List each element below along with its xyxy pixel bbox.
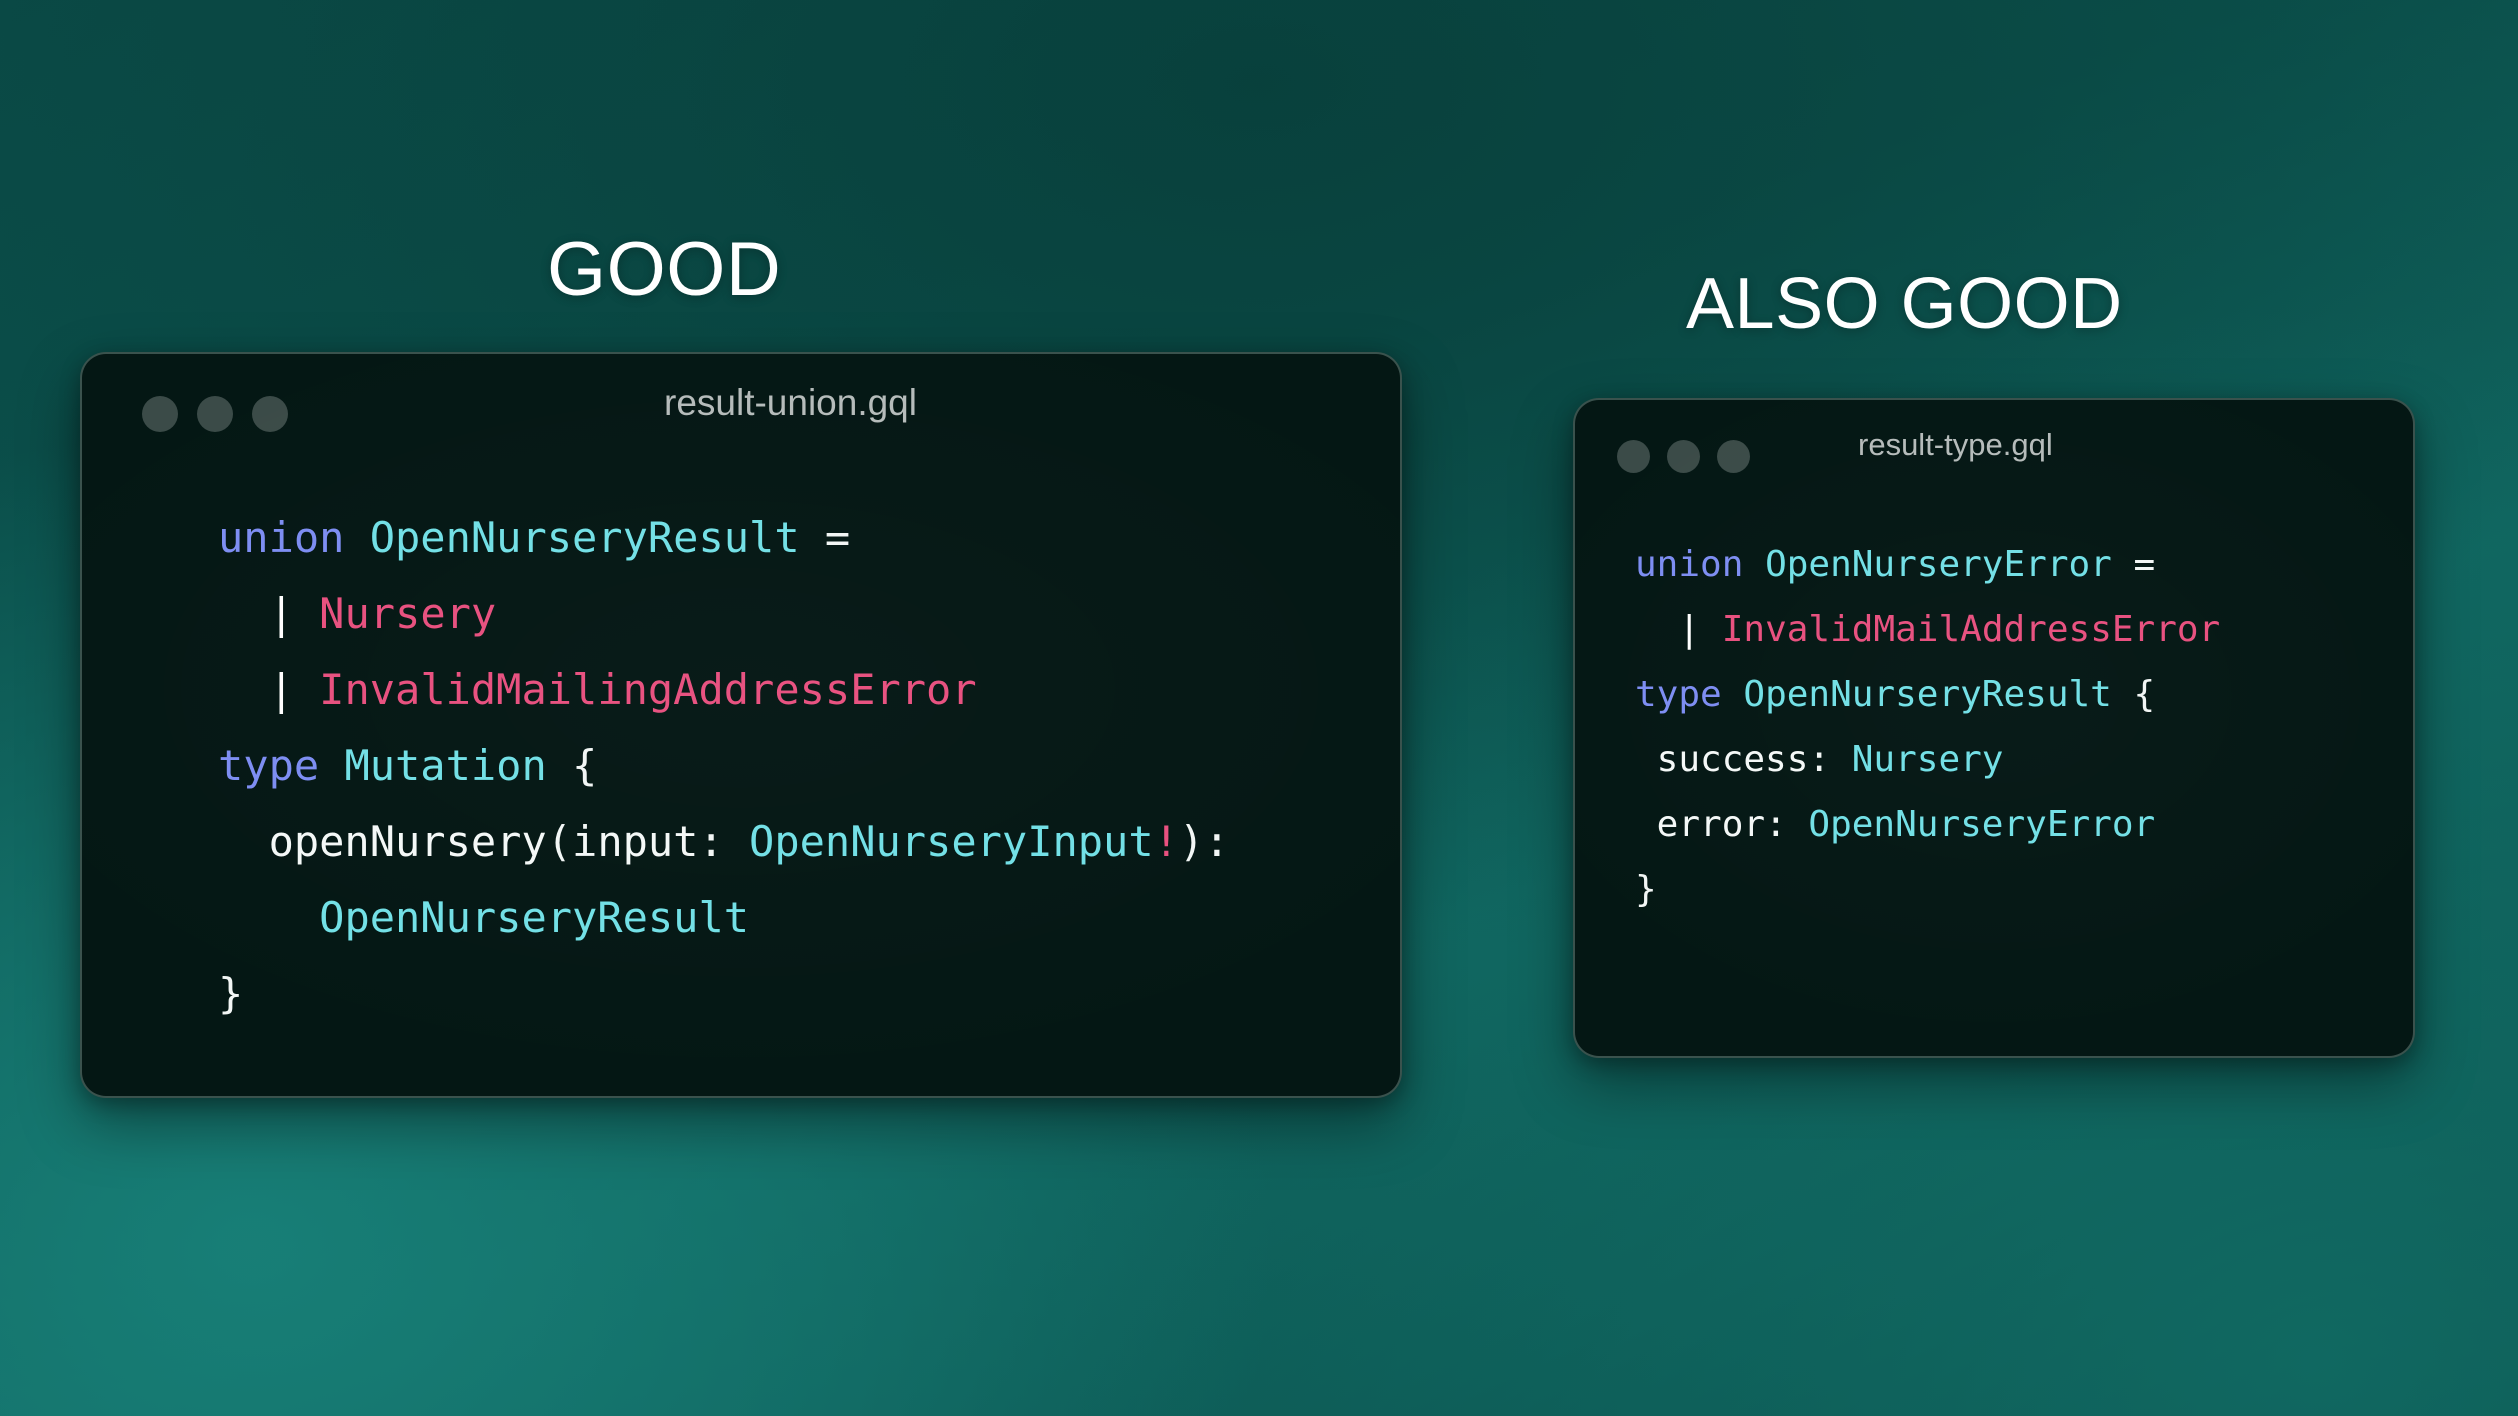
code-token: ! [1154, 817, 1179, 866]
code-line: | Nursery [218, 589, 496, 638]
code-line: } [1635, 869, 1657, 910]
code-block-type: union OpenNurseryError = | InvalidMailAd… [1635, 532, 2413, 922]
maximize-dot-icon[interactable] [252, 396, 288, 432]
code-line: union OpenNurseryResult = [218, 513, 875, 562]
code-line: error: OpenNurseryError [1635, 804, 2155, 845]
window-controls [142, 396, 288, 432]
code-line: success: Nursery [1635, 739, 2003, 780]
code-line: type OpenNurseryResult { [1635, 674, 2155, 715]
code-line: | InvalidMailAddressError [1635, 609, 2220, 650]
code-token: OpenNurseryResult [370, 513, 800, 562]
code-token [1635, 609, 1678, 650]
code-token [294, 589, 319, 638]
window-titlebar: result-type.gql [1575, 400, 2413, 484]
code-token: } [1635, 869, 1657, 910]
code-token: = [800, 513, 876, 562]
code-token: : [1808, 739, 1851, 780]
code-token: type [218, 741, 319, 790]
code-token: OpenNurseryResult [319, 893, 749, 942]
code-token: openNursery [218, 817, 547, 866]
code-token: ): [1179, 817, 1230, 866]
panel-heading-also-good: ALSO GOOD [1686, 268, 2123, 340]
code-token [1722, 674, 1744, 715]
code-token [218, 589, 269, 638]
minimize-dot-icon[interactable] [197, 396, 233, 432]
code-token: | [269, 589, 294, 638]
maximize-dot-icon[interactable] [1717, 440, 1750, 473]
window-controls [1617, 440, 1750, 473]
code-line: type Mutation { [218, 741, 597, 790]
code-line: } [218, 969, 243, 1018]
code-token: type [1635, 674, 1722, 715]
screenshot-root: GOOD result-union.gql union OpenNurseryR… [0, 0, 2518, 1416]
code-token [344, 513, 369, 562]
code-token: OpenNurseryInput [749, 817, 1154, 866]
code-token [218, 665, 269, 714]
code-token: union [1635, 544, 1743, 585]
code-token [1700, 609, 1722, 650]
code-line: union OpenNurseryError = [1635, 544, 2177, 585]
code-token: Nursery [319, 589, 496, 638]
code-token [218, 893, 319, 942]
code-window-result-type: result-type.gql union OpenNurseryError =… [1573, 398, 2415, 1058]
code-token: { [2112, 674, 2155, 715]
code-window-result-union: result-union.gql union OpenNurseryResult… [80, 352, 1402, 1098]
code-token [294, 665, 319, 714]
window-filename: result-type.gql [1858, 427, 2053, 463]
close-dot-icon[interactable] [142, 396, 178, 432]
code-token: union [218, 513, 344, 562]
code-token: Mutation [344, 741, 546, 790]
window-filename: result-union.gql [664, 382, 917, 424]
code-token: : [698, 817, 749, 866]
code-token: OpenNurseryError [1808, 804, 2155, 845]
panel-heading-good: GOOD [547, 232, 781, 308]
code-token: = [2112, 544, 2177, 585]
code-token: error [1635, 804, 1765, 845]
code-line: OpenNurseryResult [218, 893, 749, 942]
code-token: OpenNurseryResult [1743, 674, 2111, 715]
code-token: } [218, 969, 243, 1018]
code-token: input [572, 817, 698, 866]
minimize-dot-icon[interactable] [1667, 440, 1700, 473]
code-token: ( [547, 817, 572, 866]
code-token: : [1765, 804, 1808, 845]
close-dot-icon[interactable] [1617, 440, 1650, 473]
code-token: InvalidMailingAddressError [319, 665, 976, 714]
code-token: Nursery [1852, 739, 2004, 780]
code-token: { [547, 741, 598, 790]
code-token [1743, 544, 1765, 585]
code-token: success [1635, 739, 1808, 780]
code-token: | [1678, 609, 1700, 650]
code-token: | [269, 665, 294, 714]
code-token [319, 741, 344, 790]
code-block-union: union OpenNurseryResult = | Nursery | In… [218, 500, 1400, 1032]
code-token: InvalidMailAddressError [1722, 609, 2221, 650]
code-token: OpenNurseryError [1765, 544, 2112, 585]
window-titlebar: result-union.gql [82, 354, 1400, 444]
code-line: openNursery(input: OpenNurseryInput!): [218, 817, 1230, 866]
code-line: | InvalidMailingAddressError [218, 665, 977, 714]
